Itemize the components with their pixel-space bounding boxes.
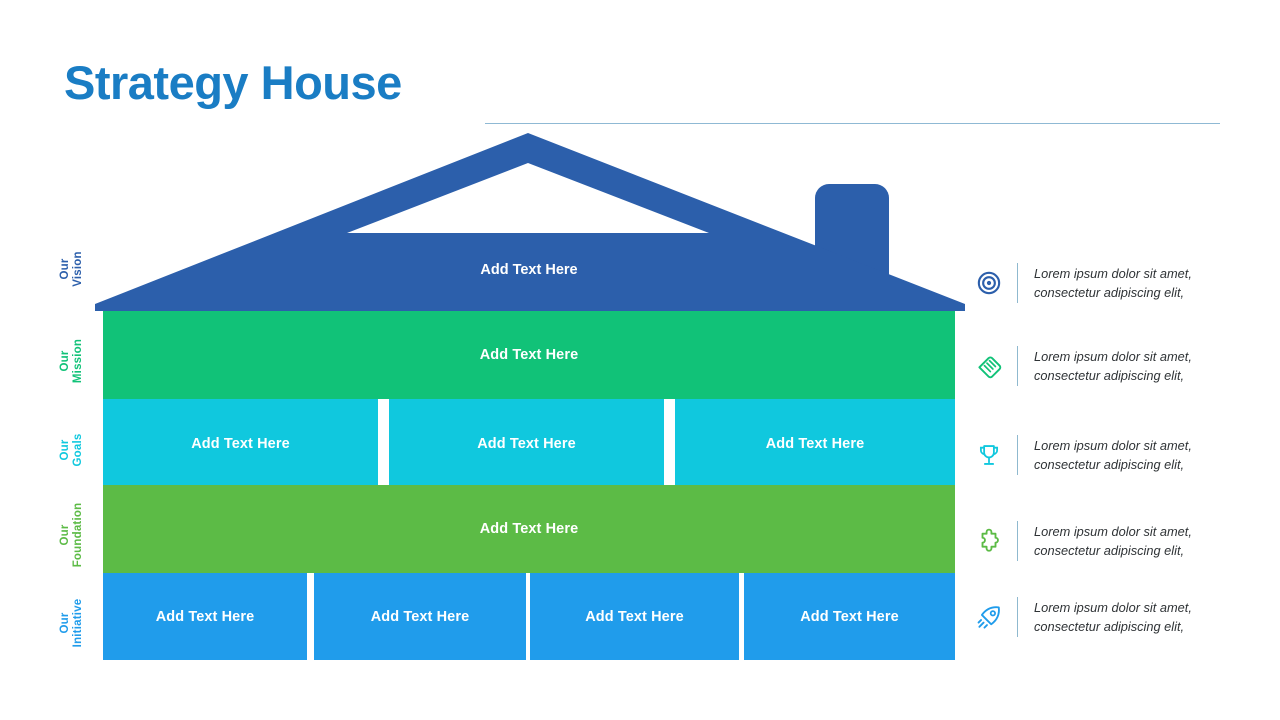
info-row-foundation[interactable]: Lorem ipsum dolor sit amet, consectetur … — [968, 513, 1268, 569]
info-row-goals[interactable]: Lorem ipsum dolor sit amet, consectetur … — [968, 427, 1268, 483]
foundation-block-label: Add Text Here — [480, 521, 579, 537]
foundation-block[interactable]: Add Text Here — [103, 485, 955, 573]
rocket-icon — [968, 596, 1010, 638]
target-icon — [968, 262, 1010, 304]
mission-block-label: Add Text Here — [480, 347, 579, 363]
goals-block-3-label: Add Text Here — [766, 436, 865, 452]
initiative-block-1-label: Add Text Here — [156, 609, 255, 625]
info-divider-vision — [1017, 263, 1018, 303]
info-text-vision: Lorem ipsum dolor sit amet, consectetur … — [1034, 264, 1192, 302]
info-row-initiative[interactable]: Lorem ipsum dolor sit amet, consectetur … — [968, 589, 1268, 645]
info-text-initiative: Lorem ipsum dolor sit amet, consectetur … — [1034, 598, 1192, 636]
mission-block[interactable]: Add Text Here — [103, 311, 955, 399]
info-text-mission: Lorem ipsum dolor sit amet, consectetur … — [1034, 347, 1192, 385]
goals-block-2-label: Add Text Here — [477, 436, 576, 452]
info-row-vision[interactable]: Lorem ipsum dolor sit amet, consectetur … — [968, 255, 1268, 311]
initiative-block-2[interactable]: Add Text Here — [314, 573, 526, 660]
roof-shape[interactable] — [95, 126, 965, 311]
info-text-goals: Lorem ipsum dolor sit amet, consectetur … — [1034, 436, 1192, 474]
goals-block-1[interactable]: Add Text Here — [103, 399, 378, 488]
info-divider-initiative — [1017, 597, 1018, 637]
initiative-block-4-label: Add Text Here — [800, 609, 899, 625]
info-row-mission[interactable]: Lorem ipsum dolor sit amet, consectetur … — [968, 338, 1268, 394]
goals-block-3[interactable]: Add Text Here — [675, 399, 955, 488]
goals-block-1-label: Add Text Here — [191, 436, 290, 452]
goals-block-2[interactable]: Add Text Here — [389, 399, 664, 488]
info-text-foundation: Lorem ipsum dolor sit amet, consectetur … — [1034, 522, 1192, 560]
initiative-block-1[interactable]: Add Text Here — [103, 573, 307, 660]
initiative-block-4[interactable]: Add Text Here — [744, 573, 955, 660]
puzzle-icon — [968, 520, 1010, 562]
initiative-block-2-label: Add Text Here — [371, 609, 470, 625]
initiative-block-3-label: Add Text Here — [585, 609, 684, 625]
side-label-initiative: Our Initiative — [59, 563, 85, 683]
initiative-block-3[interactable]: Add Text Here — [530, 573, 739, 660]
info-divider-foundation — [1017, 521, 1018, 561]
handshake-icon — [968, 345, 1010, 387]
info-divider-mission — [1017, 346, 1018, 386]
info-divider-goals — [1017, 435, 1018, 475]
trophy-icon — [968, 434, 1010, 476]
